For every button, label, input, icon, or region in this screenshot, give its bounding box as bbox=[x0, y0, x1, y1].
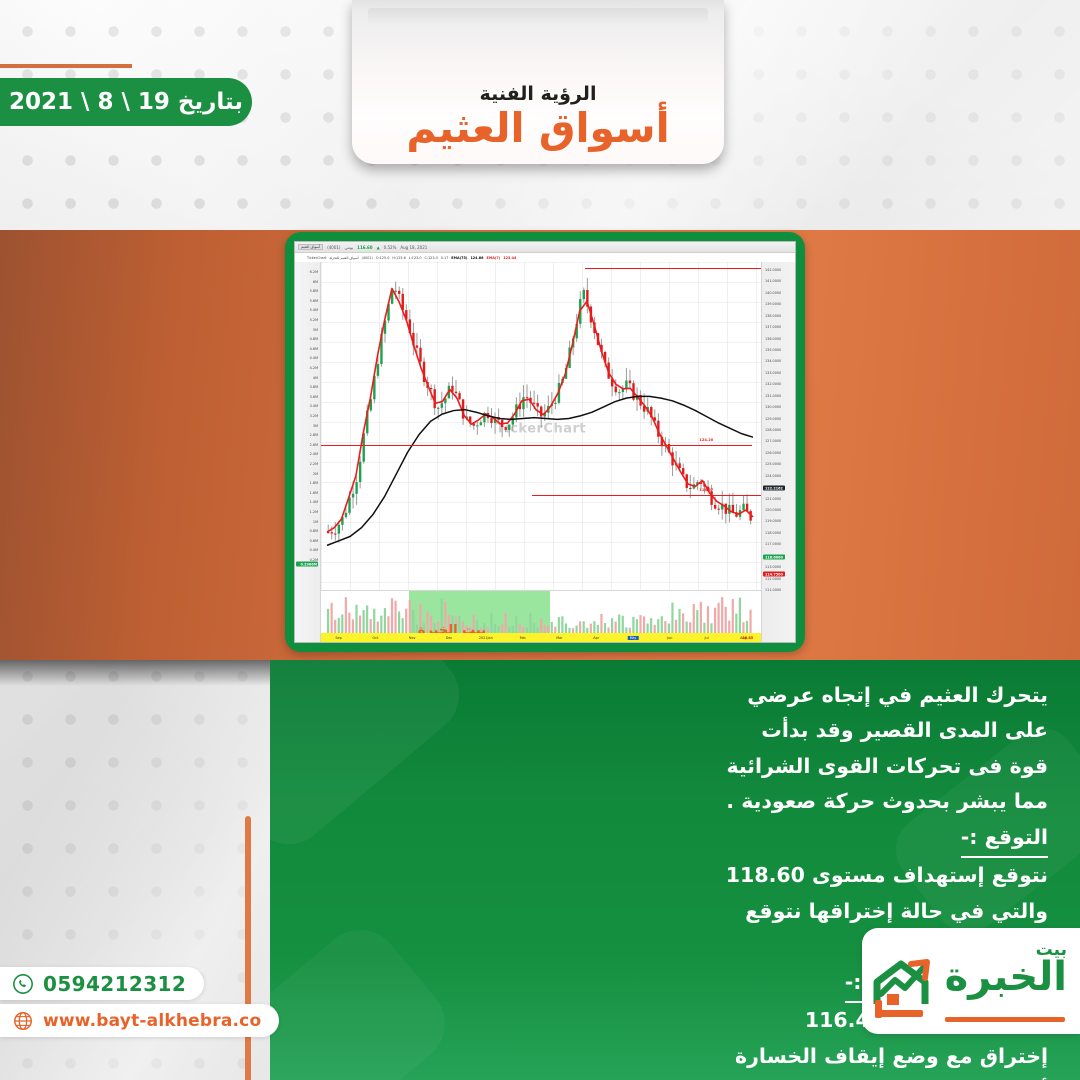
price-tick: 111.0000 bbox=[765, 588, 781, 592]
phone-number: 0594212312 bbox=[43, 972, 186, 996]
price-tick: 118.0000 bbox=[765, 531, 781, 535]
volume-tick: 5.4M bbox=[310, 308, 318, 312]
ema75-value: 124.86 bbox=[470, 256, 483, 260]
price-tick: 131.0000 bbox=[765, 394, 781, 398]
symbol-chip[interactable]: أسواق العثيم bbox=[298, 244, 323, 250]
chart-source-label: TickerChart bbox=[307, 256, 326, 260]
volume-tick: 1.4M bbox=[310, 500, 318, 504]
price-tick: 130.0000 bbox=[765, 405, 781, 409]
volume-tick: 1.8M bbox=[310, 481, 318, 485]
date-tick: Nov bbox=[409, 636, 416, 640]
volume-tick: 3.6M bbox=[310, 395, 318, 399]
volume-tick: 2.6M bbox=[310, 443, 318, 447]
poster-canvas: بتاريخ 19 \ 8 \ 2021 الرؤية الفنية أسواق… bbox=[0, 0, 1080, 1080]
volume-tick: 4.2M bbox=[310, 366, 318, 370]
price-tick: 124.0000 bbox=[765, 474, 781, 478]
brand-logo-card[interactable]: بيت الخبرة bbox=[862, 928, 1080, 1034]
level-label-118: 118.67 bbox=[699, 488, 713, 492]
price-tick: 121.0000 bbox=[765, 497, 781, 501]
volume-tick: 2.8M bbox=[310, 433, 318, 437]
date-badge: بتاريخ 19 \ 8 \ 2021 bbox=[0, 78, 252, 126]
decision-line-3: أدنى مستوى 113.60 . bbox=[578, 1074, 1048, 1080]
price-tick: 142.0000 bbox=[765, 268, 781, 272]
analysis-line-4: مما يبشر بحدوث حركة صعودية . bbox=[578, 784, 1048, 819]
date-badge-label: بتاريخ 19 \ 8 \ 2021 bbox=[9, 89, 243, 115]
price-tick: 137.0000 bbox=[765, 325, 781, 329]
series-code: (4001) bbox=[362, 256, 373, 260]
orange-accent-line bbox=[245, 816, 251, 1080]
price-plot[interactable]: TickerChart 124.20 118.67 بيت الخبرة bbox=[321, 262, 761, 642]
volume-tick: 3.4M bbox=[310, 404, 318, 408]
price-tick: 129.0000 bbox=[765, 417, 781, 421]
chart-window: أسواق العثيم (4001) يومي 116.60 ▲ 0.52% … bbox=[294, 241, 796, 643]
date-tick: Apr bbox=[593, 636, 599, 640]
date-tick: 2021Jan bbox=[479, 636, 493, 640]
date-tick: Mar bbox=[556, 636, 562, 640]
moving-average-overlays bbox=[321, 262, 761, 592]
panel-decor-shape-3 bbox=[270, 914, 461, 1080]
volume-tick: 5.8M bbox=[310, 289, 318, 293]
date-axis: SepOctNovDec2021JanFebMarAprMayJunJulAug… bbox=[321, 633, 761, 642]
price-tick: 141.0000 bbox=[765, 279, 781, 283]
price-tick: 128.0000 bbox=[765, 428, 781, 432]
price-tick: 135.0000 bbox=[765, 348, 781, 352]
page-title: أسواق العثيم bbox=[406, 107, 669, 150]
price-tick: 112.0000 bbox=[765, 577, 781, 581]
chart-frame: أسواق العثيم (4001) يومي 116.60 ▲ 0.52% … bbox=[285, 232, 805, 652]
date-axis-end-label: 18.85 bbox=[742, 636, 753, 640]
chart-info-bar: TickerChart أسواق العثيم للتجزئة (4001) … bbox=[295, 253, 795, 262]
date-tick: Feb bbox=[520, 636, 526, 640]
ohlc-extra: 0.17 bbox=[441, 256, 449, 260]
volume-tick: 2.2M bbox=[310, 462, 318, 466]
logo-main-word: الخبرة bbox=[945, 957, 1067, 997]
contact-phone[interactable]: 0594212312 bbox=[0, 967, 204, 1000]
forecast-line-1: نتوقع إستهداف مستوى 118.60 bbox=[578, 858, 1048, 893]
ohlc-low: L:123.0 bbox=[409, 256, 422, 260]
date-tick: Jun bbox=[667, 636, 672, 640]
volume-tick: 4.8M bbox=[310, 337, 318, 341]
price-tag-bid: 116.6000 bbox=[763, 555, 785, 560]
price-tick: 126.0000 bbox=[765, 451, 781, 455]
title-card: الرؤية الفنية أسواق العثيم bbox=[352, 0, 724, 164]
volume-tick: 6.2M bbox=[310, 270, 318, 274]
price-tag-current: 122.2162 bbox=[763, 486, 785, 491]
date-tick: Sep bbox=[335, 636, 341, 640]
volume-tick: 0.4M bbox=[310, 548, 318, 552]
volume-current-tag: 0.2906M bbox=[296, 562, 318, 567]
volume-tick: 1.2M bbox=[310, 510, 318, 514]
price-tick: 139.0000 bbox=[765, 302, 781, 306]
ohlc-high: H:125.6 bbox=[392, 256, 405, 260]
price-tag-ask: 114.7500 bbox=[763, 572, 785, 577]
page-subtitle: الرؤية الفنية bbox=[480, 83, 597, 105]
volume-tick: 3.8M bbox=[310, 385, 318, 389]
ohlc-close: C:123.0 bbox=[425, 256, 438, 260]
price-tick: 134.0000 bbox=[765, 359, 781, 363]
volume-tick: 2.4M bbox=[310, 452, 318, 456]
volume-axis: 6.2M6M5.8M5.6M5.4M5.2M5M4.8M4.6M4.4M4.2M… bbox=[295, 262, 321, 642]
date-tick: Dec bbox=[446, 636, 453, 640]
analysis-line-2: على المدى القصير وقد بدأت bbox=[578, 713, 1048, 748]
decision-line-2: إختراق مع وضع إيقاف الخسارة bbox=[578, 1039, 1048, 1074]
panel-decor-shape-2 bbox=[270, 660, 475, 860]
volume-tick: 4M bbox=[313, 376, 318, 380]
price-tick: 120.0000 bbox=[765, 508, 781, 512]
date-tick: Oct bbox=[372, 636, 378, 640]
price-tick: 127.0000 bbox=[765, 439, 781, 443]
level-line-124 bbox=[321, 445, 752, 446]
website-url: www.bayt-alkhebra.co bbox=[43, 1011, 261, 1031]
logo-underline-bar bbox=[945, 1017, 1065, 1022]
volume-tick: 3M bbox=[313, 424, 318, 428]
price-tick: 132.0000 bbox=[765, 382, 781, 386]
globe-icon bbox=[12, 1010, 34, 1032]
level-line-118 bbox=[532, 495, 761, 496]
logo-wordmark: بيت الخبرة bbox=[945, 942, 1067, 997]
volume-tick: 0.8M bbox=[310, 529, 318, 533]
growth-house-icon bbox=[871, 942, 949, 1022]
whatsapp-icon bbox=[12, 973, 34, 995]
date-accent-rule bbox=[0, 64, 132, 68]
analysis-line-3: قوة فى تحركات القوى الشرائية bbox=[578, 749, 1048, 784]
price-axis: 142.0000141.0000140.0000139.0000138.0000… bbox=[761, 262, 795, 642]
volume-tick: 1M bbox=[313, 520, 318, 524]
contact-website[interactable]: www.bayt-alkhebra.co bbox=[0, 1004, 279, 1037]
volume-tick: 2M bbox=[313, 472, 318, 476]
price-tick: 125.0000 bbox=[765, 462, 781, 466]
resistance-line-top bbox=[585, 268, 761, 269]
volume-tick: 5M bbox=[313, 328, 318, 332]
level-label-124: 124.20 bbox=[699, 438, 713, 442]
date-tick: Jul bbox=[705, 636, 709, 640]
volume-tick: 5.6M bbox=[310, 299, 318, 303]
forecast-heading: التوقع :- bbox=[961, 820, 1048, 858]
volume-tick: 4.4M bbox=[310, 356, 318, 360]
ema7-value: 123.44 bbox=[503, 256, 516, 260]
last-price: 116.60 bbox=[357, 245, 372, 250]
series-name: أسواق العثيم للتجزئة bbox=[329, 256, 358, 260]
interval-label[interactable]: يومي bbox=[345, 245, 354, 250]
volume-tick: 5.2M bbox=[310, 318, 318, 322]
price-tick: 119.0000 bbox=[765, 519, 781, 523]
price-tick: 138.0000 bbox=[765, 314, 781, 318]
price-tick: 140.0000 bbox=[765, 291, 781, 295]
chart-plot-area: 6.2M6M5.8M5.6M5.4M5.2M5M4.8M4.6M4.4M4.2M… bbox=[295, 262, 795, 642]
volume-tick: 3.2M bbox=[310, 414, 318, 418]
price-tick: 113.0000 bbox=[765, 565, 781, 569]
change-percent: 0.52% bbox=[384, 245, 397, 250]
quote-date: Aug 18, 2021 bbox=[400, 245, 427, 250]
volume-tick: 1.6M bbox=[310, 491, 318, 495]
up-arrow-icon: ▲ bbox=[377, 245, 380, 250]
volume-tick: 4.6M bbox=[310, 347, 318, 351]
symbol-code: (4001) bbox=[327, 245, 340, 250]
price-tick: 117.0000 bbox=[765, 542, 781, 546]
price-tick: 136.0000 bbox=[765, 337, 781, 341]
date-tick: May bbox=[628, 636, 639, 640]
volume-tick: 6M bbox=[313, 280, 318, 284]
ohlc-open: O:125.0 bbox=[376, 256, 389, 260]
analysis-line-1: يتحرك العثيم في إتجاه عرضي bbox=[578, 678, 1048, 713]
volume-tick: 0.6M bbox=[310, 539, 318, 543]
price-tick: 133.0000 bbox=[765, 371, 781, 375]
ema75-label: EMA(75) bbox=[451, 256, 467, 260]
forecast-line-2: والتي في حالة إختراقها نتوقع bbox=[578, 894, 1048, 929]
ema7-label: EMA(7) bbox=[487, 256, 501, 260]
chart-toolbar[interactable]: أسواق العثيم (4001) يومي 116.60 ▲ 0.52% … bbox=[295, 242, 795, 253]
